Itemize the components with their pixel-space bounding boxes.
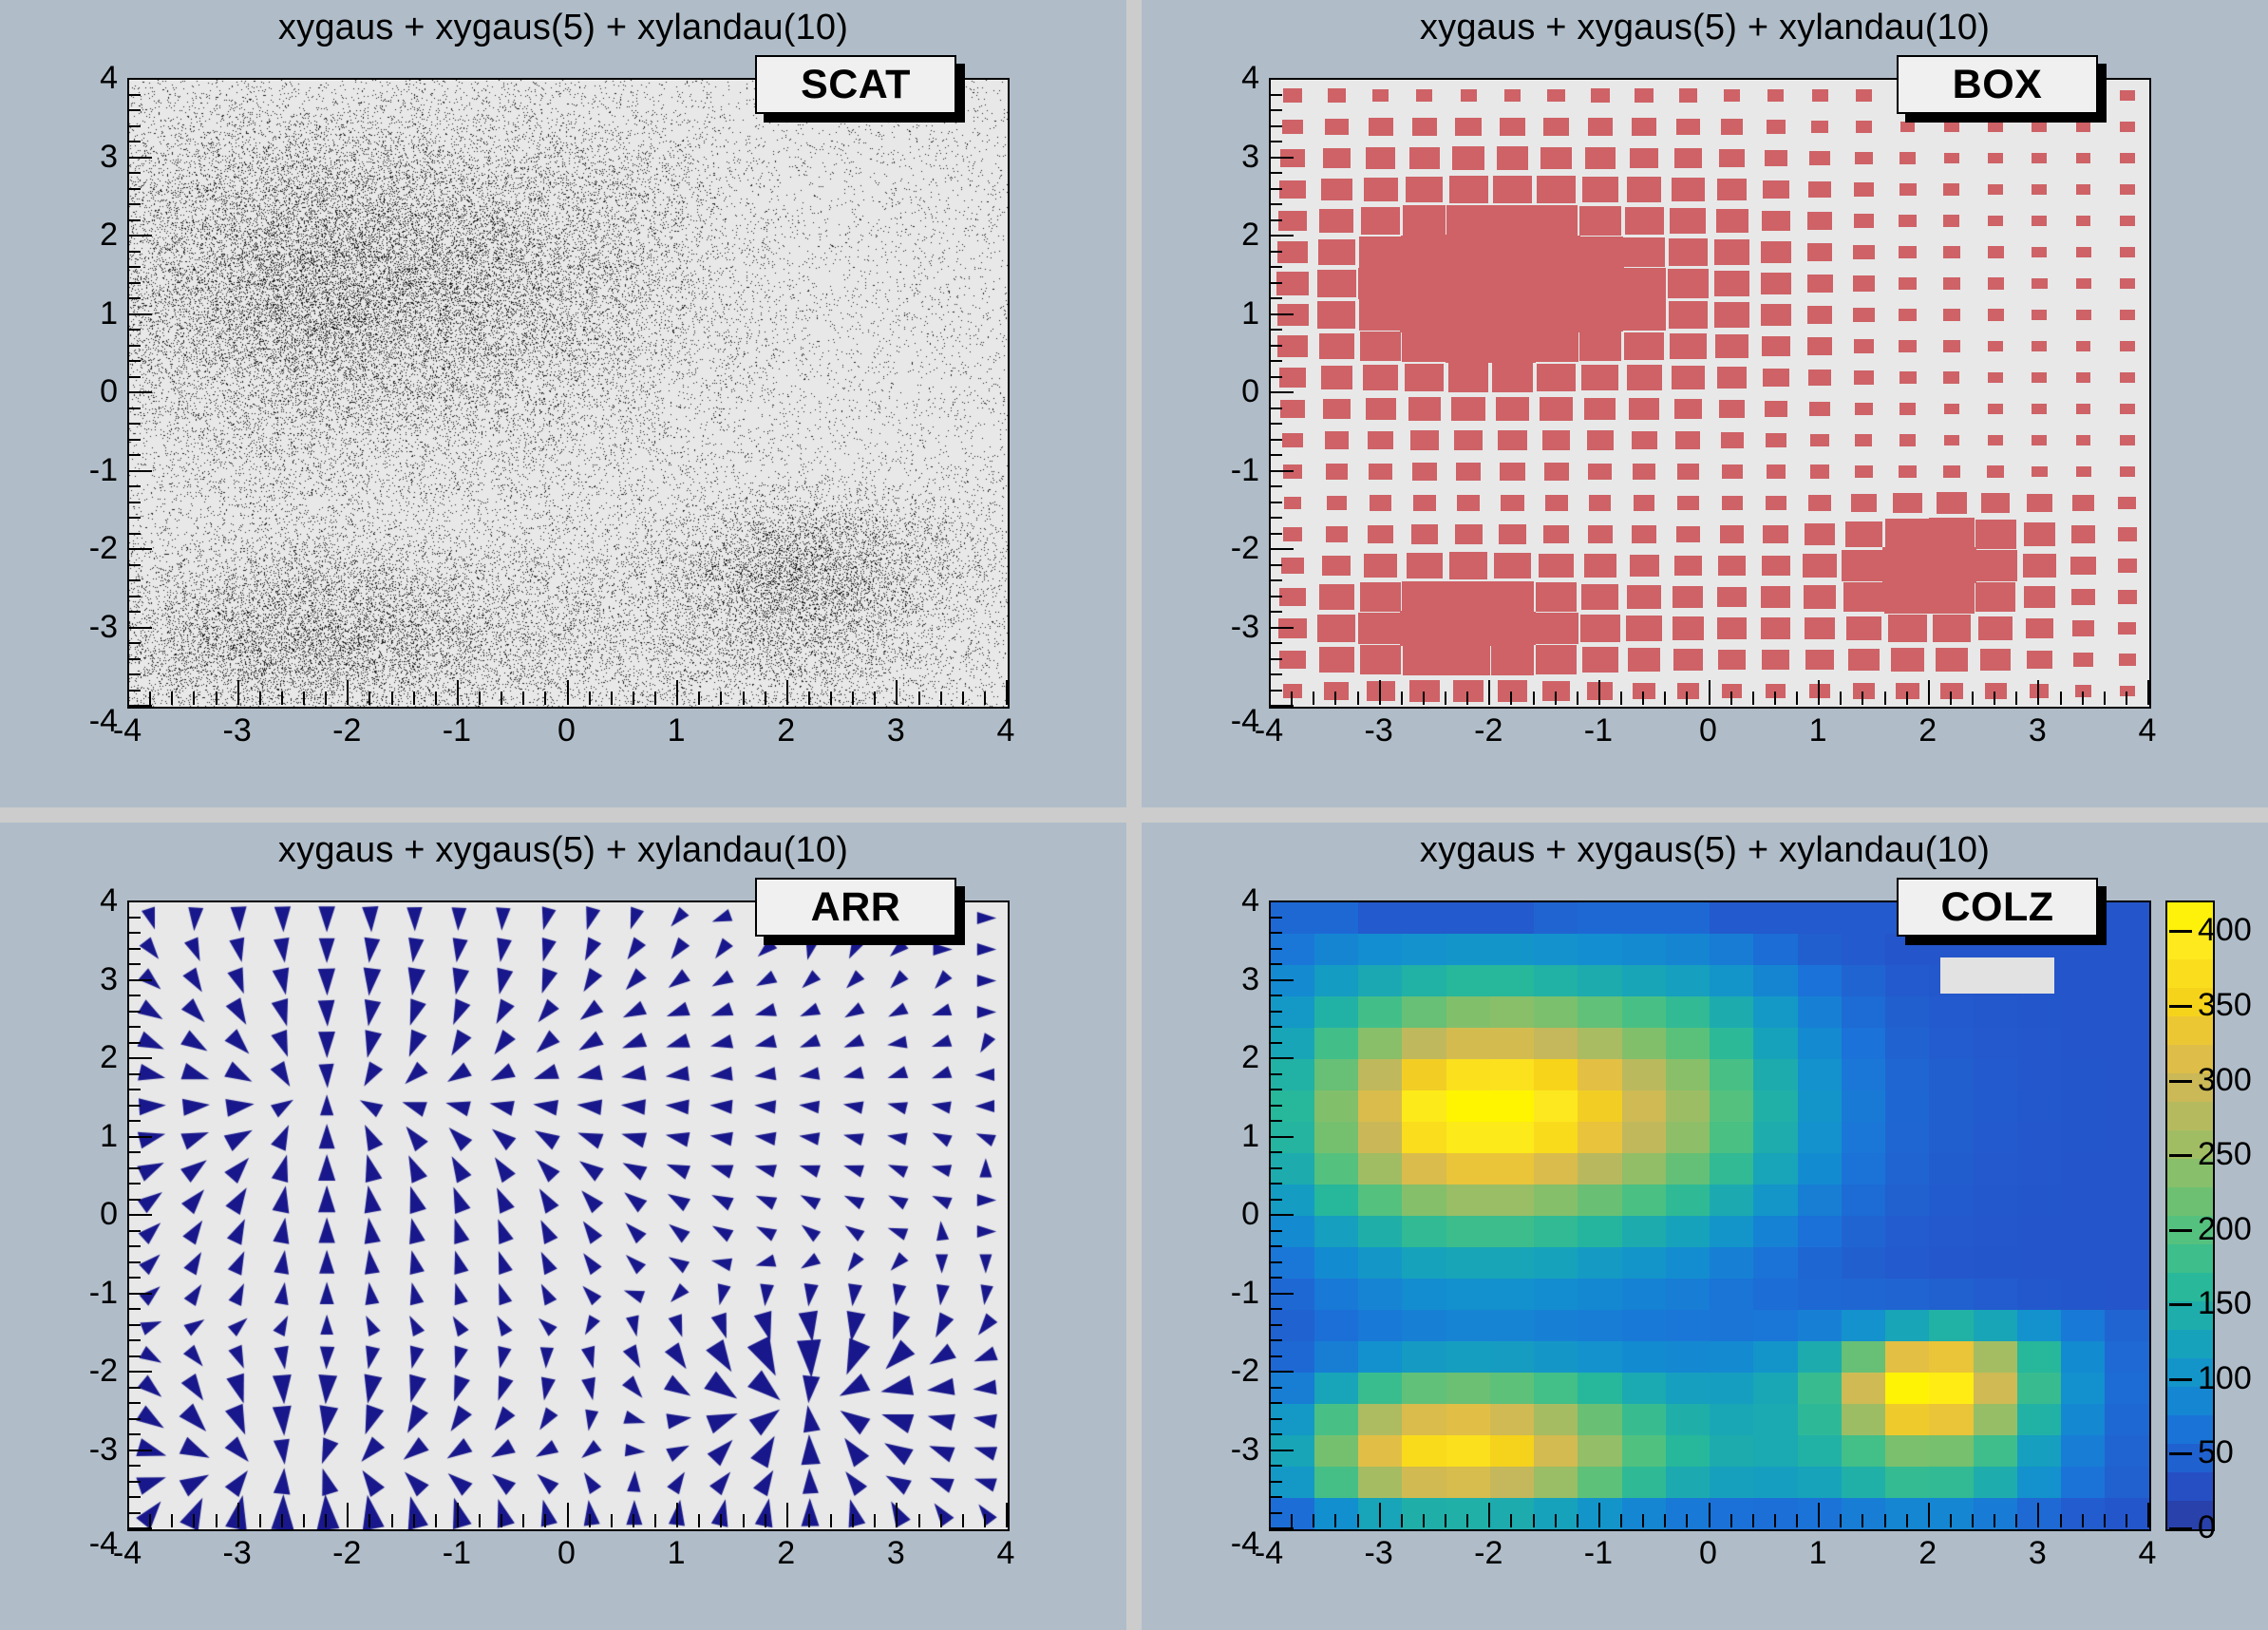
- y-axis-label: -3: [61, 611, 118, 643]
- heatmap-cell: [1271, 1310, 1315, 1342]
- box-marker: [1366, 398, 1396, 420]
- pad-colz[interactable]: xygaus + xygaus(5) + xylandau(10) -4-3-2…: [1142, 823, 2268, 1630]
- heatmap-cell: [2105, 1216, 2149, 1248]
- y-axis-label: 2: [1202, 218, 1259, 251]
- box-marker: [1719, 149, 1745, 167]
- x-axis-tick-minor: [501, 1514, 502, 1527]
- x-axis-tick-minor: [654, 692, 656, 705]
- box-marker: [1674, 399, 1703, 419]
- heatmap-cell: [1753, 1247, 1798, 1279]
- y-axis-tick-minor: [127, 297, 141, 299]
- y-axis-tick-minor: [127, 376, 141, 378]
- option-tag-scat[interactable]: SCAT: [755, 55, 956, 114]
- pad-scat[interactable]: xygaus + xygaus(5) + xylandau(10) -4-3-2…: [0, 0, 1126, 807]
- heatmap-cell: [2061, 1279, 2106, 1311]
- heatmap-cell: [1622, 1185, 1667, 1217]
- option-tag-label: ARR: [755, 878, 956, 937]
- box-marker: [1899, 434, 1916, 445]
- heatmap-cell: [2061, 1216, 2106, 1248]
- heatmap-cell: [1974, 1090, 2018, 1123]
- x-axis-tick-minor: [1423, 692, 1425, 705]
- box-marker: [1761, 617, 1790, 638]
- heatmap-cell: [2105, 1059, 2149, 1091]
- box-marker: [1981, 493, 2010, 514]
- heatmap-cell: [1490, 902, 1535, 935]
- heatmap-cell: [1402, 1498, 1446, 1530]
- x-axis-tick-minor: [720, 692, 722, 705]
- box-marker: [1766, 433, 1786, 447]
- heatmap-cell: [1666, 1185, 1710, 1217]
- x-axis-tick-minor: [1774, 692, 1776, 705]
- y-axis-tick-major: [127, 391, 152, 393]
- heatmap-cell: [1490, 1498, 1535, 1530]
- x-axis-tick-minor: [1533, 692, 1535, 705]
- box-marker: [1449, 176, 1488, 203]
- box-marker: [2026, 618, 2053, 638]
- heatmap-cell: [1974, 1185, 2018, 1217]
- option-tag-label: BOX: [1897, 55, 2098, 114]
- x-axis-tick-minor: [193, 692, 195, 705]
- color-cells: [1271, 902, 2149, 1529]
- x-axis-tick-minor: [962, 1514, 964, 1527]
- x-axis-label: -1: [419, 714, 495, 747]
- box-marker: [1282, 433, 1303, 448]
- heatmap-cell: [1402, 1122, 1446, 1154]
- y-axis-tick-minor: [127, 1402, 141, 1404]
- box-marker: [2076, 341, 2091, 351]
- heatmap-cell: [1578, 1404, 1622, 1436]
- y-axis-tick-minor: [1269, 219, 1282, 221]
- x-axis-tick-minor: [149, 1514, 151, 1527]
- x-axis-tick-major: [1709, 680, 1710, 705]
- heatmap-cell: [1622, 934, 1667, 966]
- x-axis-tick-minor: [1577, 1514, 1578, 1527]
- heatmap-cell: [1490, 934, 1535, 966]
- heatmap-cell: [1842, 902, 1886, 935]
- box-marker: [1416, 89, 1432, 101]
- box-marker: [1762, 650, 1789, 670]
- box-marker: [1582, 647, 1618, 673]
- heatmap-cell: [1710, 1216, 1754, 1248]
- pad-arr[interactable]: xygaus + xygaus(5) + xylandau(10) -4-3-2…: [0, 823, 1126, 1630]
- box-marker: [1807, 275, 1833, 293]
- heatmap-cell: [1490, 1435, 1535, 1468]
- box-marker: [1899, 309, 1917, 322]
- box-marker: [1411, 524, 1438, 543]
- box-marker: [2032, 153, 2047, 163]
- x-axis-label: 3: [858, 714, 934, 747]
- plot-frame-colz[interactable]: [1269, 900, 2151, 1531]
- heatmap-cell: [1753, 1498, 1798, 1530]
- x-axis-label: 0: [1671, 1537, 1747, 1569]
- y-axis-tick-minor: [127, 596, 141, 597]
- box-marker: [1805, 523, 1835, 544]
- palette-tick-label: 200: [2198, 1213, 2252, 1245]
- heatmap-cell: [1446, 1279, 1491, 1311]
- heatmap-cell: [1842, 1122, 1886, 1154]
- y-axis-tick-minor: [127, 219, 141, 221]
- box-marker: [2024, 586, 2055, 608]
- heatmap-cell: [2061, 1467, 2106, 1499]
- box-marker: [1810, 434, 1829, 447]
- y-axis-tick-major: [127, 470, 152, 472]
- box-marker: [1765, 150, 1788, 167]
- heatmap-cell: [1402, 1373, 1446, 1405]
- box-marker: [1535, 205, 1578, 236]
- box-marker: [2120, 153, 2135, 163]
- x-axis-tick-minor: [1906, 692, 1908, 705]
- box-marker: [1899, 215, 1916, 227]
- heatmap-cell: [1753, 965, 1798, 997]
- option-tag-box[interactable]: BOX: [1897, 55, 2098, 114]
- heatmap-cell: [1929, 1153, 1974, 1185]
- y-axis-tick-major: [127, 1293, 152, 1295]
- box-marker: [1577, 267, 1623, 300]
- box-marker: [1412, 118, 1438, 136]
- box-marker: [2027, 494, 2052, 512]
- y-axis-tick-major: [127, 313, 152, 315]
- box-marker: [1492, 363, 1532, 391]
- x-axis-tick-minor: [765, 692, 766, 705]
- palette-strip: [2167, 1330, 2213, 1359]
- box-marker: [1926, 547, 1976, 583]
- heatmap-cell: [1271, 1153, 1315, 1185]
- y-axis-tick-minor: [1269, 1481, 1282, 1483]
- heatmap-cell: [1271, 1373, 1315, 1405]
- box-marker: [1807, 306, 1833, 324]
- heatmap-cell: [1314, 1028, 1359, 1060]
- heatmap-cell: [1402, 1279, 1446, 1311]
- option-tag-arr[interactable]: ARR: [755, 878, 956, 937]
- pad-box[interactable]: xygaus + xygaus(5) + xylandau(10) -4-3-2…: [1142, 0, 2268, 807]
- box-marker: [1842, 550, 1885, 581]
- box-marker: [1580, 615, 1620, 643]
- palette-tick-label: 50: [2198, 1436, 2234, 1469]
- y-axis-tick-minor: [127, 1277, 141, 1279]
- palette-strip: [2167, 1472, 2213, 1502]
- x-axis-tick-major: [1269, 680, 1271, 705]
- box-marker: [1673, 616, 1705, 639]
- y-axis-tick-minor: [1269, 1167, 1282, 1169]
- heatmap-cell: [1446, 902, 1491, 935]
- heatmap-cell: [1798, 1153, 1843, 1185]
- heatmap-cell: [1534, 1185, 1578, 1217]
- x-axis-tick-major: [1006, 1503, 1008, 1527]
- box-marker: [1372, 89, 1389, 101]
- x-axis-label: -2: [309, 1537, 385, 1569]
- box-marker: [1279, 588, 1306, 607]
- heatmap-cell: [1753, 996, 1798, 1029]
- box-marker: [1943, 277, 1960, 290]
- heatmap-cell: [1666, 996, 1710, 1029]
- heatmap-cell: [1753, 1467, 1798, 1499]
- x-axis-tick-minor: [171, 1514, 173, 1527]
- x-axis-tick-minor: [259, 692, 261, 705]
- x-axis-tick-minor: [2060, 1514, 2062, 1527]
- heatmap-cell: [1446, 965, 1491, 997]
- y-axis-label: 4: [1202, 884, 1259, 917]
- x-axis-tick-minor: [149, 692, 151, 705]
- box-marker: [1809, 151, 1829, 165]
- box-marker: [1451, 397, 1485, 421]
- y-axis-tick-major: [1269, 1371, 1294, 1373]
- x-axis-label: -2: [1450, 714, 1526, 747]
- x-axis-label: -1: [419, 1537, 495, 1569]
- x-axis-tick-major: [786, 680, 788, 705]
- box-marker: [1584, 398, 1616, 421]
- y-axis-tick-major: [127, 900, 152, 902]
- y-axis-tick-major: [127, 627, 152, 629]
- heatmap-cell: [1314, 1373, 1359, 1405]
- box-marker: [2076, 310, 2091, 320]
- plot-frame-box[interactable]: [1269, 78, 2151, 709]
- x-axis-tick-major: [1269, 1503, 1271, 1527]
- heatmap-cell: [1842, 1279, 1886, 1311]
- y-axis-tick-minor: [127, 932, 141, 934]
- x-axis-tick-major: [347, 1503, 349, 1527]
- x-axis-tick-major: [567, 680, 569, 705]
- plot-frame-scat[interactable]: [127, 78, 1010, 709]
- y-axis-tick-minor: [127, 917, 141, 919]
- heatmap-cell: [1753, 1341, 1798, 1374]
- y-axis-tick-minor: [1269, 1026, 1282, 1028]
- box-marker: [1540, 397, 1573, 421]
- y-axis-tick-minor: [127, 141, 141, 142]
- box-marker: [1545, 495, 1568, 511]
- box-marker: [1851, 494, 1877, 512]
- palette-tick-label: 400: [2198, 914, 2252, 946]
- box-marker: [1716, 209, 1748, 232]
- heatmap-cell: [1929, 1247, 1974, 1279]
- heatmap-cell: [1358, 1435, 1403, 1468]
- heatmap-cell: [1622, 1059, 1667, 1091]
- box-marker: [1854, 182, 1873, 196]
- x-axis-tick-minor: [1840, 692, 1842, 705]
- x-axis-tick-minor: [1313, 1514, 1314, 1527]
- heatmap-cell: [1666, 1310, 1710, 1342]
- y-axis-tick-minor: [1269, 1496, 1282, 1498]
- box-marker: [2032, 184, 2047, 195]
- heatmap-cell: [1974, 1310, 2018, 1342]
- plot-frame-arr[interactable]: [127, 900, 1010, 1531]
- box-marker: [1933, 615, 1971, 642]
- heatmap-cell: [1842, 934, 1886, 966]
- y-axis-tick-minor: [1269, 1387, 1282, 1389]
- heatmap-cell: [1710, 1467, 1754, 1499]
- heatmap-cell: [1710, 1028, 1754, 1060]
- heatmap-cell: [2061, 1028, 2106, 1060]
- box-marker: [1936, 648, 1969, 672]
- heatmap-cell: [1974, 1247, 2018, 1279]
- y-axis-label: -2: [1202, 1355, 1259, 1387]
- x-axis-tick-minor: [501, 692, 502, 705]
- box-marker: [1717, 179, 1748, 199]
- box-marker: [1358, 268, 1403, 299]
- option-tag-colz[interactable]: COLZ: [1897, 878, 2098, 937]
- box-marker: [1579, 332, 1621, 362]
- heatmap-cell: [1490, 1059, 1535, 1091]
- x-axis-tick-minor: [413, 692, 415, 705]
- heatmap-cell: [1358, 1279, 1403, 1311]
- heatmap-cell: [1402, 1090, 1446, 1123]
- heatmap-cell: [1446, 1028, 1491, 1060]
- heatmap-cell: [1271, 996, 1315, 1029]
- heatmap-cell: [1402, 1185, 1446, 1217]
- x-axis-tick-minor: [1796, 692, 1798, 705]
- heatmap-cell: [1402, 1310, 1446, 1342]
- box-marker: [1500, 118, 1525, 136]
- heatmap-cell: [2061, 1153, 2106, 1185]
- x-axis-tick-minor: [1334, 1514, 1336, 1527]
- heatmap-cell: [1490, 1467, 1535, 1499]
- y-axis-tick-minor: [1269, 1042, 1282, 1044]
- heatmap-cell: [1929, 1216, 1974, 1248]
- heatmap-cell: [1710, 1185, 1754, 1217]
- heatmap-cell: [2017, 1404, 2062, 1436]
- y-axis-label: 4: [61, 884, 118, 917]
- heatmap-cell: [1622, 1153, 1667, 1185]
- heatmap-cell: [1534, 965, 1578, 997]
- y-axis-label: 2: [1202, 1041, 1259, 1073]
- x-axis-label: 1: [638, 1537, 714, 1569]
- y-axis-tick-minor: [1269, 658, 1282, 660]
- heatmap-cell: [1402, 934, 1446, 966]
- heatmap-cell: [1534, 1404, 1578, 1436]
- box-marker: [1807, 337, 1832, 354]
- x-axis-tick-major: [2037, 680, 2039, 705]
- heatmap-cell: [2105, 1341, 2149, 1374]
- x-axis-tick-minor: [1357, 1514, 1359, 1527]
- x-axis-tick-minor: [193, 1514, 195, 1527]
- y-axis-tick-major: [1269, 900, 1294, 902]
- heatmap-cell: [1710, 1435, 1754, 1468]
- heatmap-cell: [1929, 1498, 1974, 1530]
- y-axis-tick-minor: [1269, 564, 1282, 566]
- x-axis-tick-minor: [216, 692, 217, 705]
- x-axis-tick-minor: [1884, 692, 1886, 705]
- y-axis-tick-minor: [1269, 125, 1282, 127]
- x-axis-tick-minor: [522, 1514, 524, 1527]
- box-marker: [1406, 177, 1443, 203]
- y-axis-tick-minor: [1269, 1308, 1282, 1310]
- heatmap-cell: [2061, 1341, 2106, 1374]
- box-marker: [1413, 495, 1436, 511]
- box-marker: [1449, 552, 1486, 578]
- box-marker: [1679, 88, 1698, 102]
- x-axis-tick-minor: [765, 1514, 766, 1527]
- heatmap-cell: [1490, 1341, 1535, 1374]
- heatmap-cell: [2105, 902, 2149, 935]
- x-axis-label: -3: [199, 714, 275, 747]
- heatmap-cell: [1271, 1122, 1315, 1154]
- box-marker: [1400, 611, 1448, 645]
- box-marker: [1360, 582, 1402, 612]
- heatmap-cell: [1753, 1153, 1798, 1185]
- y-axis-tick-minor: [127, 1120, 141, 1122]
- y-axis-tick-minor: [1269, 1183, 1282, 1185]
- box-marker: [1929, 580, 1975, 614]
- heatmap-cell: [1534, 1279, 1578, 1311]
- box-marker: [1489, 330, 1535, 363]
- box-marker: [1767, 89, 1784, 101]
- y-axis-tick-minor: [1269, 251, 1282, 253]
- heatmap-cell: [1358, 1028, 1403, 1060]
- heatmap-cell: [1358, 1185, 1403, 1217]
- x-axis-tick-minor: [940, 1514, 942, 1527]
- box-marker: [1588, 525, 1614, 543]
- heatmap-cell: [1798, 1185, 1843, 1217]
- heatmap-cell: [1402, 902, 1446, 935]
- heatmap-cell: [1490, 1153, 1535, 1185]
- box-marker: [1978, 616, 2013, 641]
- box-marker: [1804, 585, 1836, 608]
- y-axis-label: 0: [1202, 1198, 1259, 1230]
- box-marker: [1943, 340, 1959, 351]
- x-axis-label: 2: [748, 1537, 824, 1569]
- box-marker: [1943, 371, 1959, 383]
- palette-tick: [2169, 1303, 2192, 1306]
- y-axis-tick-major: [1269, 1214, 1294, 1216]
- x-axis-tick-minor: [962, 692, 964, 705]
- box-marker: [1974, 550, 2017, 581]
- heatmap-cell: [2017, 1247, 2062, 1279]
- heatmap-cell: [1753, 902, 1798, 935]
- x-axis-tick-minor: [325, 1514, 327, 1527]
- box-marker: [1358, 613, 1403, 645]
- y-axis-tick-minor: [1269, 407, 1282, 409]
- heatmap-cell: [1885, 1122, 1930, 1154]
- box-marker: [1491, 644, 1534, 674]
- heatmap-cell: [1314, 1090, 1359, 1123]
- box-marker: [1585, 147, 1616, 168]
- x-axis-tick-minor: [808, 692, 810, 705]
- y-axis-tick-minor: [127, 1496, 141, 1498]
- box-marker: [2120, 404, 2135, 414]
- box-marker: [1446, 330, 1491, 363]
- box-marker: [1455, 524, 1483, 544]
- heatmap-cell: [2105, 934, 2149, 966]
- y-axis-tick-minor: [127, 109, 141, 111]
- box-marker: [1279, 180, 1306, 199]
- x-axis-tick-minor: [2060, 692, 2062, 705]
- box-marker: [1988, 246, 2004, 257]
- y-axis-tick-minor: [127, 1026, 141, 1028]
- heatmap-cell: [1666, 965, 1710, 997]
- heatmap-cell: [1842, 1435, 1886, 1468]
- box-marker: [2024, 522, 2056, 545]
- box-marker: [1456, 463, 1481, 481]
- heatmap-cell: [1885, 1153, 1930, 1185]
- x-axis-tick-major: [457, 1503, 459, 1527]
- heatmap-cell: [1578, 1247, 1622, 1279]
- y-axis-tick-minor: [1269, 1199, 1282, 1201]
- heatmap-cell: [1358, 1090, 1403, 1123]
- y-axis-tick-minor: [127, 407, 141, 409]
- box-marker: [2118, 497, 2136, 509]
- palette-tick: [2169, 930, 2192, 933]
- x-axis-tick-minor: [2104, 1514, 2106, 1527]
- heatmap-cell: [1666, 1404, 1710, 1436]
- box-marker: [1673, 586, 1703, 608]
- y-axis-label: -1: [61, 454, 118, 486]
- heatmap-cell: [1842, 996, 1886, 1029]
- box-marker: [1629, 398, 1659, 419]
- box-marker: [1673, 649, 1703, 670]
- heatmap-cell: [2061, 1247, 2106, 1279]
- box-marker: [1361, 207, 1400, 235]
- y-axis-tick-minor: [127, 125, 141, 127]
- y-axis-tick-minor: [127, 658, 141, 660]
